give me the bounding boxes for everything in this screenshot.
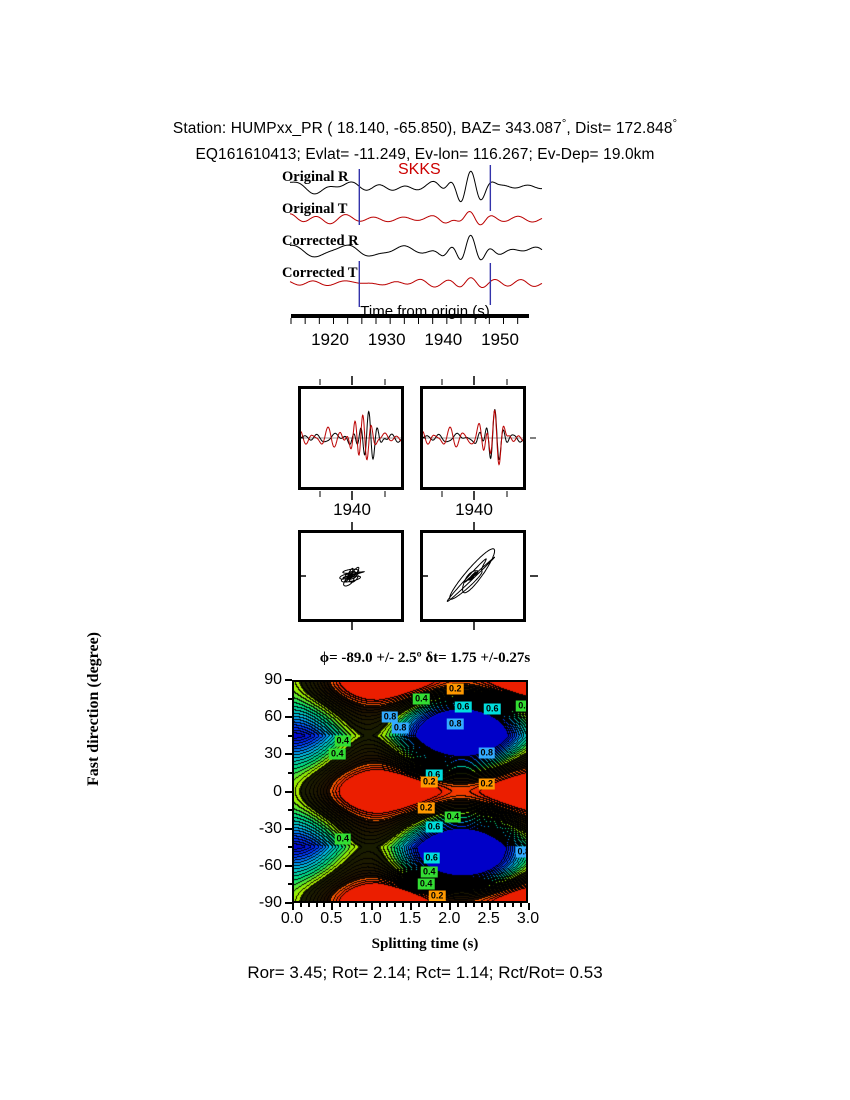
time-axis-tick-labels: 1920193019401950	[291, 330, 531, 354]
station-info-line: Station: HUMPxx_PR ( 18.140, -65.850), B…	[0, 118, 850, 138]
contour-y-tick-mark	[285, 791, 292, 793]
contour-x-minor-tick	[434, 903, 436, 907]
statistics-line: Ror= 3.45; Rot= 2.14; Rct= 1.14; Rct/Rot…	[0, 963, 850, 983]
trace-label-original-r: Original R	[282, 169, 348, 186]
time-axis-tick-label: 1940	[424, 330, 462, 350]
contour-x-minor-tick	[504, 903, 506, 907]
contour-level-label: 0.6	[423, 852, 440, 863]
contour-y-minor-tick	[288, 698, 292, 700]
contour-y-tick-label: 60	[222, 708, 282, 726]
contour-x-minor-tick	[441, 903, 443, 907]
time-axis-tick-label: 1950	[481, 330, 519, 350]
contour-level-label: 0.6	[426, 821, 443, 832]
contour-x-minor-tick	[473, 903, 475, 907]
contour-level-label: 0.2	[418, 803, 435, 814]
trace-label-original-t: Original T	[282, 201, 347, 218]
waveform-box-label-right: 1940	[455, 500, 493, 520]
contour-y-tick-mark	[285, 865, 292, 867]
contour-x-minor-tick	[512, 903, 514, 907]
contour-y-tick-label: -90	[222, 894, 282, 912]
station-info-mid: , Dist= 172.848	[566, 120, 672, 137]
contour-y-tick-label: 90	[222, 671, 282, 689]
contour-level-label: 0.2	[429, 891, 446, 902]
time-axis-tick-label: 1920	[311, 330, 349, 350]
contour-level-label: 0.4	[335, 736, 352, 747]
contour-level-label: 0.8	[382, 711, 399, 722]
contour-level-label: 0.8	[447, 719, 464, 730]
contour-x-minor-tick	[363, 903, 365, 907]
contour-y-axis-label: Fast direction (degree)	[85, 599, 103, 819]
contour-plot-title: ϕ= -89.0 +/- 2.5º δt= 1.75 +/-0.27s	[0, 650, 850, 667]
contour-y-tick-mark	[285, 753, 292, 755]
contour-x-minor-tick	[386, 903, 388, 907]
contour-x-tick-label: 1.0	[360, 910, 382, 928]
contour-level-label: 0.4	[516, 700, 528, 711]
contour-y-minor-tick	[288, 846, 292, 848]
contour-x-tick-mark	[410, 903, 412, 910]
contour-x-minor-tick	[347, 903, 349, 907]
contour-x-minor-tick	[481, 903, 483, 907]
trace-label-corrected-r: Corrected R	[282, 233, 359, 250]
contour-level-label: 0.4	[329, 748, 346, 759]
contour-x-tick-mark	[449, 903, 451, 910]
splitting-contour-plot[interactable]: 0.20.40.40.60.60.80.80.80.80.40.40.60.20…	[292, 680, 528, 903]
contour-x-tick-mark	[292, 903, 294, 910]
contour-level-label: 0.8	[392, 722, 409, 733]
contour-level-label: 0.4	[421, 866, 438, 877]
time-axis-tick-label: 1930	[368, 330, 406, 350]
contour-level-label: 0.2	[421, 777, 438, 788]
time-axis-ruler	[286, 312, 536, 328]
contour-x-tick-mark	[371, 903, 373, 910]
trace-label-corrected-t: Corrected T	[282, 265, 358, 282]
contour-y-tick-label: -30	[222, 820, 282, 838]
contour-level-label: 0.6	[455, 701, 472, 712]
contour-level-label: 0.8	[478, 747, 495, 758]
contour-x-tick-label: 0.0	[281, 910, 303, 928]
contour-x-minor-tick	[308, 903, 310, 907]
station-info-pre: Station: HUMPxx_PR ( 18.140, -65.850), B…	[173, 120, 562, 137]
contour-x-minor-tick	[316, 903, 318, 907]
contour-x-minor-tick	[426, 903, 428, 907]
contour-x-tick-mark	[331, 903, 333, 910]
contour-y-minor-tick	[288, 735, 292, 737]
contour-level-label: 0.4	[335, 834, 352, 845]
contour-level-label: 0.4	[413, 694, 430, 705]
contour-y-minor-tick	[288, 809, 292, 811]
contour-y-tick-label: 0	[222, 783, 282, 801]
phase-label-skks: SKKS	[398, 161, 441, 179]
contour-x-tick-label: 2.0	[438, 910, 460, 928]
waveform-trace-panel: Original R Original T Corrected R Correc…	[270, 165, 550, 325]
contour-y-tick-mark	[285, 716, 292, 718]
contour-level-label: 0.6	[484, 704, 501, 715]
contour-x-axis-label: Splitting time (s)	[0, 936, 850, 953]
contour-y-tick-mark	[285, 828, 292, 830]
contour-x-minor-tick	[394, 903, 396, 907]
contour-y-tick-label: 30	[222, 745, 282, 763]
contour-y-minor-tick	[288, 772, 292, 774]
contour-x-minor-tick	[465, 903, 467, 907]
contour-x-minor-tick	[418, 903, 420, 907]
contour-y-tick-label: -60	[222, 857, 282, 875]
contour-level-label: 0.4	[418, 878, 435, 889]
contour-level-label: 0.2	[478, 778, 495, 789]
contour-x-minor-tick	[339, 903, 341, 907]
contour-y-tick-mark	[285, 679, 292, 681]
contour-x-tick-label: 2.5	[478, 910, 500, 928]
contour-y-minor-tick	[288, 883, 292, 885]
contour-x-tick-mark	[528, 903, 530, 910]
contour-y-tick-mark	[285, 902, 292, 904]
mid-waveform-axis-ticks	[290, 376, 540, 502]
contour-x-minor-tick	[520, 903, 522, 907]
contour-x-tick-label: 3.0	[517, 910, 539, 928]
particle-box-axis-ticks	[290, 522, 540, 630]
degree-symbol-dist: °	[673, 118, 678, 130]
contour-x-tick-mark	[489, 903, 491, 910]
contour-level-label: 0.8	[515, 846, 528, 857]
contour-x-minor-tick	[402, 903, 404, 907]
contour-x-minor-tick	[323, 903, 325, 907]
contour-x-minor-tick	[497, 903, 499, 907]
contour-x-tick-label: 0.5	[320, 910, 342, 928]
contour-x-minor-tick	[457, 903, 459, 907]
contour-x-minor-tick	[355, 903, 357, 907]
contour-level-label: 0.4	[445, 812, 462, 823]
contour-x-tick-label: 1.5	[399, 910, 421, 928]
contour-level-label: 0.2	[447, 684, 464, 695]
waveform-box-label-left: 1940	[333, 500, 371, 520]
contour-x-minor-tick	[379, 903, 381, 907]
contour-x-minor-tick	[300, 903, 302, 907]
